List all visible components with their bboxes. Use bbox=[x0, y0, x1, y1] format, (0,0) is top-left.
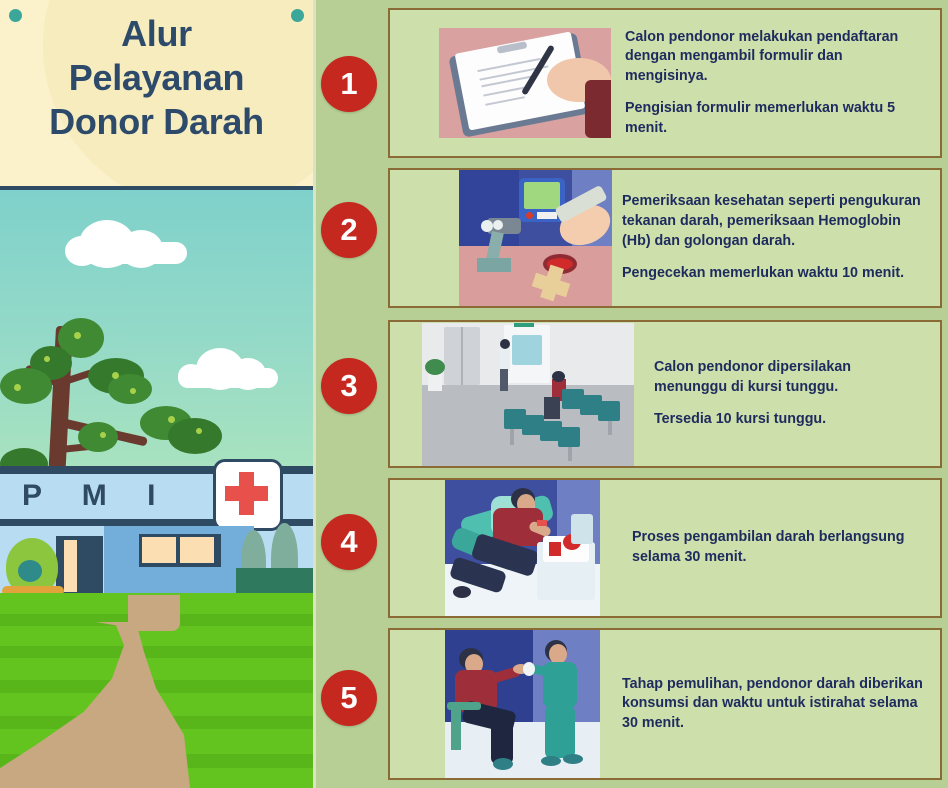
step-2-paragraph-1: Pemeriksaan kesehatan seperti pengukuran… bbox=[622, 192, 928, 251]
hedge bbox=[236, 568, 313, 594]
step-row-5: 5 bbox=[316, 628, 948, 780]
step-2-paragraph-2: Pengecekan memerlukan waktu 10 menit. bbox=[622, 264, 928, 284]
step-row-2: 2 bbox=[316, 168, 948, 308]
step-row-4: 4 bbox=[316, 478, 948, 618]
step-4-paragraph-1: Proses pengambilan darah berlangsung sel… bbox=[632, 528, 928, 567]
step-3-image bbox=[422, 323, 634, 466]
step-number-2-label: 2 bbox=[340, 212, 357, 248]
step-row-1: 1 Calon pendonor melakukan p bbox=[316, 8, 948, 158]
step-1-image bbox=[439, 28, 611, 138]
door-pane bbox=[64, 540, 77, 592]
step-2-image bbox=[459, 170, 612, 306]
red-cross-icon bbox=[213, 459, 283, 531]
step-card-5[interactable]: Tahap pemulihan, pendonor darah diberika… bbox=[388, 628, 942, 780]
cloud-icon-2 bbox=[178, 368, 278, 388]
step-4-text: Proses pengambilan darah berlangsung sel… bbox=[600, 528, 940, 567]
title-line-3: Donor Darah bbox=[0, 100, 313, 144]
step-1-text: Calon pendonor melakukan pendaftaran den… bbox=[611, 28, 940, 139]
step-4-image bbox=[445, 480, 600, 616]
path-top bbox=[128, 595, 180, 631]
step-1-paragraph-2: Pengisian formulir memerlukan waktu 5 me… bbox=[625, 99, 928, 138]
title-line-1: Alur bbox=[0, 12, 313, 56]
step-number-4: 4 bbox=[321, 514, 377, 570]
step-2-text: Pemeriksaan kesehatan seperti pengukuran… bbox=[612, 192, 940, 283]
page-title: Alur Pelayanan Donor Darah bbox=[0, 12, 313, 144]
step-card-3[interactable]: Calon pendonor dipersilakan menunggu di … bbox=[388, 320, 942, 468]
step-5-image bbox=[445, 630, 600, 778]
infographic-page: Alur Pelayanan Donor Darah bbox=[0, 0, 948, 788]
step-3-paragraph-2: Tersedia 10 kursi tunggu. bbox=[654, 410, 928, 430]
step-1-paragraph-1: Calon pendonor melakukan pendaftaran den… bbox=[625, 28, 928, 87]
window-pane-right bbox=[180, 537, 214, 563]
step-number-2: 2 bbox=[321, 202, 377, 258]
step-number-5-label: 5 bbox=[340, 680, 357, 716]
bush-left-accent bbox=[18, 560, 42, 582]
left-illustration-panel: Alur Pelayanan Donor Darah bbox=[0, 0, 313, 788]
step-number-3-label: 3 bbox=[340, 368, 357, 404]
title-line-2: Pelayanan bbox=[0, 56, 313, 100]
step-3-paragraph-1: Calon pendonor dipersilakan menunggu di … bbox=[654, 358, 928, 397]
title-card: Alur Pelayanan Donor Darah bbox=[0, 0, 313, 186]
step-number-1: 1 bbox=[321, 56, 377, 112]
steps-panel: 1 Calon pendonor melakukan p bbox=[316, 0, 948, 788]
step-card-2[interactable]: Pemeriksaan kesehatan seperti pengukuran… bbox=[388, 168, 942, 308]
cloud-icon-1 bbox=[67, 242, 187, 264]
step-number-3: 3 bbox=[321, 358, 377, 414]
window-pane-left bbox=[142, 537, 176, 563]
step-number-5: 5 bbox=[321, 670, 377, 726]
step-5-paragraph-1: Tahap pemulihan, pendonor darah diberika… bbox=[622, 675, 928, 734]
step-card-1[interactable]: Calon pendonor melakukan pendaftaran den… bbox=[388, 8, 942, 158]
step-card-4[interactable]: Proses pengambilan darah berlangsung sel… bbox=[388, 478, 942, 618]
step-number-4-label: 4 bbox=[340, 524, 357, 560]
step-3-text: Calon pendonor dipersilakan menunggu di … bbox=[634, 358, 940, 430]
building-name-label: P M I bbox=[22, 474, 212, 518]
step-number-1-label: 1 bbox=[340, 66, 357, 102]
step-row-3: 3 bbox=[316, 320, 948, 468]
step-5-text: Tahap pemulihan, pendonor darah diberika… bbox=[600, 675, 940, 734]
